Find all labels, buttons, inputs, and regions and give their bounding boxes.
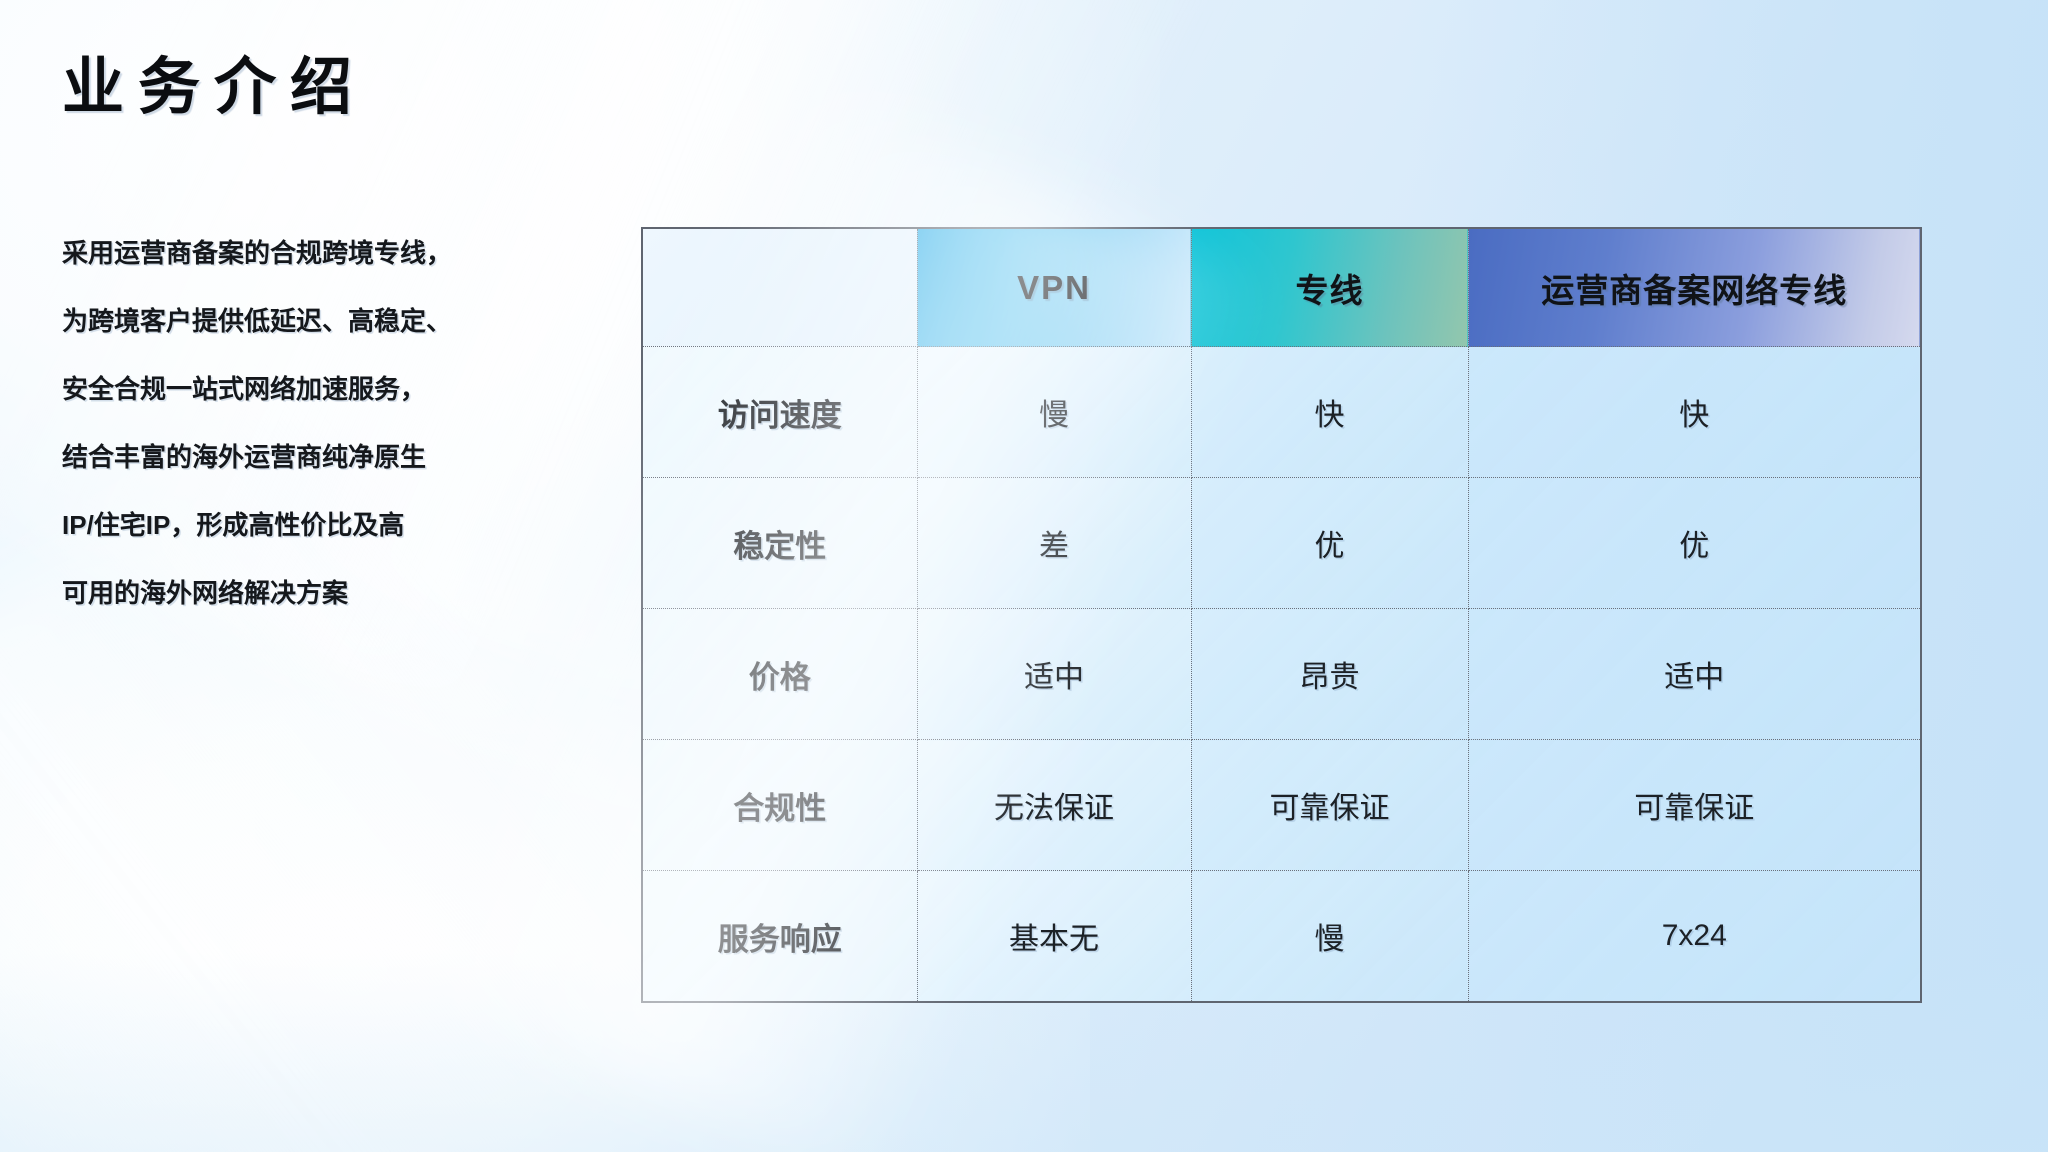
table-header-carrier-filed-line: 运营商备案网络专线: [1468, 228, 1921, 347]
table-row: 服务响应 基本无 慢 7x24: [642, 871, 1921, 1003]
table-cell-value: 慢: [1315, 923, 1345, 956]
table-cell-value: 快: [1679, 399, 1709, 432]
description-block: 采用运营商备案的合规跨境专线， 为跨境客户提供低延迟、高稳定、 安全合规一站式网…: [62, 240, 482, 606]
table-cell-carrier-filed-line: 优: [1468, 478, 1921, 609]
table-cell-value: 适中: [1024, 661, 1084, 694]
table-cell-value: 适中: [1664, 661, 1724, 694]
table-cell-value: 无法保证: [994, 792, 1114, 825]
table-row-label: 稳定性: [733, 529, 826, 564]
table-row-label-cell: 访问速度: [642, 347, 917, 478]
table-row: 稳定性 差 优 优: [642, 478, 1921, 609]
table-cell-value: 快: [1315, 399, 1345, 432]
table-row-label-cell: 稳定性: [642, 478, 917, 609]
description-line: 结合丰富的海外运营商纯净原生: [62, 444, 482, 470]
description-line: 可用的海外网络解决方案: [62, 580, 482, 606]
table-row-label: 访问速度: [718, 398, 842, 433]
table-row: 访问速度 慢 快 快: [642, 347, 1921, 478]
table-row: 价格 适中 昂贵 适中: [642, 609, 1921, 740]
table-cell-value: 基本无: [1009, 923, 1099, 956]
table-cell-dedicated-line: 快: [1191, 347, 1468, 478]
description-line: 为跨境客户提供低延迟、高稳定、: [62, 308, 482, 334]
table-header-vpn: VPN: [917, 228, 1191, 347]
table-cell-value: 差: [1039, 530, 1069, 563]
table-row-label: 价格: [749, 660, 811, 695]
table-cell-vpn: 基本无: [917, 871, 1191, 1003]
table-cell-value: 优: [1315, 530, 1345, 563]
table-cell-vpn: 慢: [917, 347, 1191, 478]
table-header-carrier-filed-line-label: 运营商备案网络专线: [1541, 272, 1847, 309]
table-cell-vpn: 适中: [917, 609, 1191, 740]
page-title: 业务介绍: [62, 54, 366, 122]
table-header-dedicated-line-label: 专线: [1296, 272, 1364, 309]
description-line: 安全合规一站式网络加速服务，: [62, 376, 482, 402]
table-cell-dedicated-line: 慢: [1191, 871, 1468, 1003]
table-cell-dedicated-line: 昂贵: [1191, 609, 1468, 740]
table-row: 合规性 无法保证 可靠保证 可靠保证: [642, 740, 1921, 871]
table-header-blank: [642, 228, 917, 347]
table-row-label-cell: 合规性: [642, 740, 917, 871]
table-cell-value: 慢: [1039, 399, 1069, 432]
table-cell-value: 昂贵: [1300, 661, 1360, 694]
table-header-dedicated-line: 专线: [1191, 228, 1468, 347]
table-row-label: 合规性: [733, 791, 826, 826]
table-cell-value: 可靠保证: [1634, 792, 1754, 825]
description-line: 采用运营商备案的合规跨境专线，: [62, 240, 482, 266]
table-header-row: VPN 专线 运营商备案网络专线: [642, 228, 1921, 347]
table-cell-carrier-filed-line: 快: [1468, 347, 1921, 478]
slide-canvas: 业务介绍 采用运营商备案的合规跨境专线， 为跨境客户提供低延迟、高稳定、 安全合…: [0, 0, 2048, 1152]
table-cell-carrier-filed-line: 可靠保证: [1468, 740, 1921, 871]
comparison-table: VPN 专线 运营商备案网络专线 访问速度 慢 快: [641, 227, 1922, 1003]
table-cell-carrier-filed-line: 适中: [1468, 609, 1921, 740]
table-cell-value: 优: [1679, 530, 1709, 563]
table-cell-vpn: 差: [917, 478, 1191, 609]
table-cell-carrier-filed-line: 7x24: [1468, 871, 1921, 1003]
table-cell-dedicated-line: 优: [1191, 478, 1468, 609]
table-row-label: 服务响应: [718, 922, 842, 957]
table-cell-value: 7x24: [1662, 919, 1727, 952]
table-row-label-cell: 价格: [642, 609, 917, 740]
description-line: IP/住宅IP，形成高性价比及高: [62, 512, 482, 538]
table-row-label-cell: 服务响应: [642, 871, 917, 1003]
table-cell-value: 可靠保证: [1270, 792, 1390, 825]
table-cell-vpn: 无法保证: [917, 740, 1191, 871]
table-cell-dedicated-line: 可靠保证: [1191, 740, 1468, 871]
table-header-vpn-label: VPN: [1017, 269, 1091, 306]
